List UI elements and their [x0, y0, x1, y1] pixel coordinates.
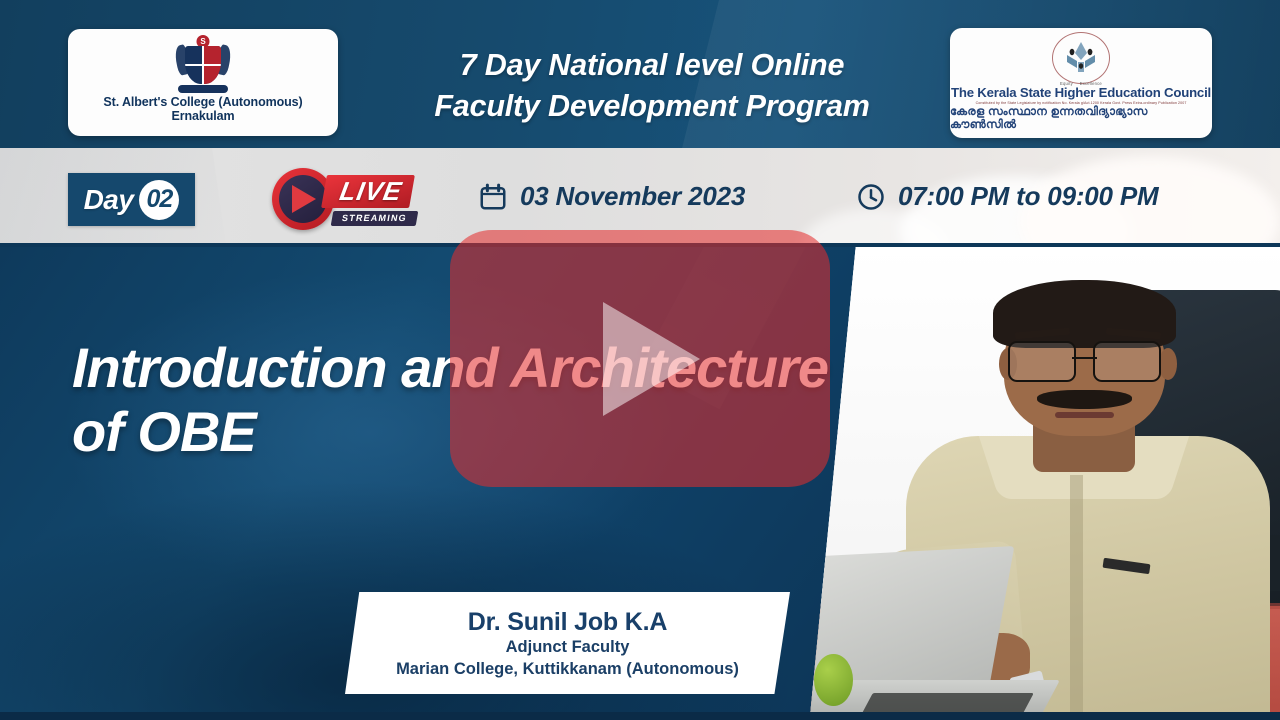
speaker-info-card: Dr. Sunil Job K.A Adjunct Faculty Marian…: [345, 592, 790, 694]
header-band: S St. Albert's College (Autonomous) Erna…: [0, 0, 1280, 148]
st-alberts-crest-icon: S: [176, 35, 230, 93]
speaker-organization: Marian College, Kuttikkanam (Autonomous): [396, 659, 739, 680]
live-label: LIVE: [321, 175, 415, 208]
youtube-play-button[interactable]: [450, 230, 830, 487]
calendar-icon: [478, 182, 508, 212]
day-label: Day: [84, 184, 134, 216]
green-apple: [814, 654, 852, 706]
crest-ribbon: [178, 85, 228, 93]
crest-quadrant-bottom-right: [203, 65, 221, 84]
speaker-ear-right: [1159, 348, 1177, 380]
day-badge: Day 02: [68, 173, 195, 226]
eyeglass-bridge: [1072, 357, 1097, 359]
play-triangle-icon: [603, 302, 700, 416]
crest-quadrant-top-right: [203, 46, 221, 65]
st-alberts-caption-line2: Ernakulam: [103, 109, 302, 123]
video-thumbnail-frame: S St. Albert's College (Autonomous) Erna…: [0, 0, 1280, 720]
speaker-mouth: [1055, 412, 1113, 418]
st-alberts-college-logo-card: S St. Albert's College (Autonomous) Erna…: [68, 29, 338, 136]
session-time-text: 07:00 PM to 09:00 PM: [898, 181, 1158, 212]
clock-icon: [856, 182, 886, 212]
pocket-pen: [1102, 557, 1150, 573]
speaker-name: Dr. Sunil Job K.A: [468, 608, 667, 637]
st-alberts-caption-line1: St. Albert's College (Autonomous): [103, 95, 302, 109]
session-time: 07:00 PM to 09:00 PM: [856, 181, 1158, 212]
speaker-photo: [800, 247, 1280, 720]
crest-shield: [185, 46, 221, 84]
eyeglass-lens-right: [1093, 341, 1161, 382]
shirt-placket: [1070, 475, 1083, 720]
live-play-triangle-icon: [292, 185, 316, 213]
kshec-name-ml: കേരള സംസ്ഥാന ഉന്നതവിദ്യാഭ്യാസ കൗൺസിൽ: [950, 106, 1212, 132]
kshec-name-en: The Kerala State Higher Education Counci…: [951, 85, 1211, 100]
eyeglasses: [1008, 341, 1161, 378]
streaming-label: STREAMING: [331, 211, 418, 226]
crest-quadrant-bottom-left: [185, 65, 203, 84]
program-title-line2: Faculty Development Program: [352, 86, 952, 127]
program-title-line1: 7 Day National level Online: [352, 45, 952, 86]
day-number: 02: [139, 180, 179, 220]
speaker-role: Adjunct Faculty: [506, 637, 630, 658]
live-streaming-badge: LIVE STREAMING: [272, 163, 402, 237]
kshec-name-subtext: Constituted by the State Legislature by …: [976, 101, 1187, 105]
speaker-photo-panel: [800, 247, 1280, 720]
kshec-label-excellence: Excellence: [1080, 81, 1102, 86]
program-title: 7 Day National level Online Faculty Deve…: [352, 45, 952, 126]
st-alberts-caption: St. Albert's College (Autonomous) Ernaku…: [103, 95, 302, 124]
crest-cross-horizontal: [185, 64, 221, 66]
session-date-text: 03 November 2023: [520, 181, 745, 212]
bottom-bar: [0, 712, 1280, 720]
session-date: 03 November 2023: [478, 181, 745, 212]
speaker-moustache: [1037, 390, 1132, 409]
kshec-y-mark: [1061, 39, 1101, 75]
kshec-logo-card: Equity Excellence The Kerala State Highe…: [950, 28, 1212, 138]
kshec-ring: [1052, 32, 1110, 84]
kshec-mark-labels: Equity Excellence: [1046, 81, 1116, 86]
eyeglass-lens-left: [1008, 341, 1076, 382]
kshec-emblem-icon: Equity Excellence: [1046, 31, 1116, 85]
kshec-label-equity: Equity: [1060, 81, 1073, 86]
